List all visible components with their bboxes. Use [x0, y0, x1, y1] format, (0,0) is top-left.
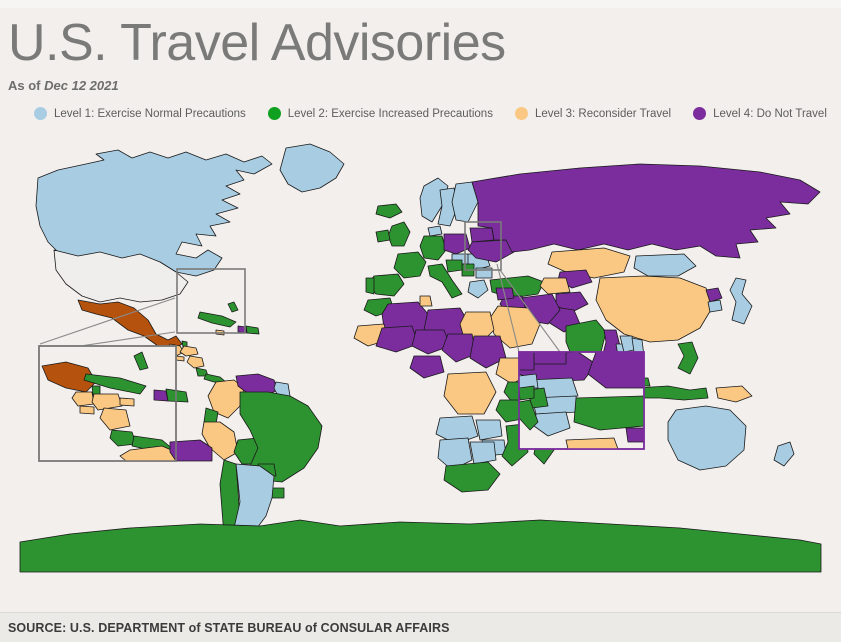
country-united-kingdom[interactable] [388, 222, 410, 246]
inset-country-jamaica[interactable] [120, 398, 134, 406]
country-nigeria[interactable] [410, 356, 444, 378]
country-japan[interactable] [730, 278, 752, 324]
as-of-prefix: As of [8, 78, 41, 93]
country-honduras[interactable] [180, 346, 198, 356]
legend-label: Level 2: Exercise Increased Precautions [288, 108, 493, 120]
legend-label: Level 1: Exercise Normal Precautions [54, 108, 246, 120]
country-uruguay[interactable] [272, 488, 284, 498]
inset-country-turkey[interactable] [574, 396, 644, 430]
inset-country-haiti[interactable] [154, 390, 168, 401]
top-strip [0, 0, 841, 8]
country-cuba[interactable] [198, 312, 236, 327]
page-title: U.S. Travel Advisories [8, 14, 841, 72]
country-bahamas[interactable] [228, 302, 238, 312]
country-south-africa[interactable] [444, 462, 500, 492]
country-panama[interactable] [204, 374, 226, 382]
legend: Level 1: Exercise Normal Precautions Lev… [0, 93, 841, 130]
as-of-line: As of Dec 12 2021 [8, 78, 841, 93]
country-dominican-republic[interactable] [246, 326, 259, 334]
inset-country-syria[interactable] [626, 428, 644, 442]
inset-country-el-salvador[interactable] [80, 406, 94, 414]
country-philippines[interactable] [678, 342, 698, 374]
inset-country-belarus[interactable] [530, 352, 566, 364]
country-mongolia[interactable] [634, 254, 696, 276]
country-greenland[interactable] [280, 144, 344, 192]
country-ireland[interactable] [376, 230, 390, 242]
country-russia[interactable] [472, 164, 820, 258]
country-south-korea[interactable] [708, 300, 722, 312]
country-germany[interactable] [420, 236, 446, 260]
inset-country-croatia[interactable] [519, 386, 534, 400]
travel-advisory-infographic: U.S. Travel Advisories As of Dec 12 2021… [0, 0, 841, 642]
circle-icon [34, 107, 47, 120]
country-turkmenistan[interactable] [540, 278, 570, 294]
country-nicaragua[interactable] [187, 356, 204, 368]
circle-icon [515, 107, 528, 120]
inset-country-dominican-republic[interactable] [166, 389, 188, 402]
country-papua-new-guinea[interactable] [716, 386, 752, 402]
inset-country-egypt[interactable] [566, 438, 618, 449]
inset-country-poland[interactable] [519, 352, 534, 370]
legend-item-level4[interactable]: Level 4: Do Not Travel [693, 107, 827, 120]
as-of-date: Dec 12 2021 [44, 78, 118, 93]
country-dr-congo[interactable] [444, 372, 496, 414]
world-map[interactable] [0, 130, 841, 612]
country-new-zealand[interactable] [774, 442, 794, 466]
country-botswana[interactable] [470, 442, 496, 464]
country-belarus[interactable] [470, 228, 494, 242]
country-el-salvador[interactable] [176, 356, 184, 361]
country-indonesia[interactable] [636, 386, 708, 400]
country-poland[interactable] [444, 234, 470, 254]
country-france[interactable] [394, 252, 426, 278]
country-portugal[interactable] [366, 278, 374, 294]
source-footer: SOURCE: U.S. DEPARTMENT of STATE BUREAU … [0, 612, 841, 642]
source-text: SOURCE: U.S. DEPARTMENT of STATE BUREAU … [8, 621, 450, 635]
country-iceland[interactable] [376, 204, 402, 218]
legend-item-level2[interactable]: Level 2: Exercise Increased Precautions [268, 107, 493, 120]
legend-item-level1[interactable]: Level 1: Exercise Normal Precautions [34, 107, 246, 120]
country-zambia[interactable] [476, 420, 502, 440]
legend-item-level3[interactable]: Level 3: Reconsider Travel [515, 107, 671, 120]
legend-label: Level 4: Do Not Travel [713, 108, 827, 120]
country-tunisia[interactable] [420, 296, 432, 306]
country-greece[interactable] [468, 280, 488, 298]
country-mexico[interactable] [78, 300, 182, 350]
legend-label: Level 3: Reconsider Travel [535, 108, 671, 120]
country-australia[interactable] [668, 406, 746, 470]
circle-icon [268, 107, 281, 120]
inset-country-hungary[interactable] [519, 374, 538, 388]
country-denmark[interactable] [428, 226, 442, 236]
country-croatia[interactable] [446, 260, 462, 272]
circle-icon [693, 107, 706, 120]
country-mali[interactable] [376, 326, 418, 352]
page-header: U.S. Travel Advisories As of Dec 12 2021 [0, 8, 841, 93]
country-antarctica[interactable] [20, 520, 821, 572]
